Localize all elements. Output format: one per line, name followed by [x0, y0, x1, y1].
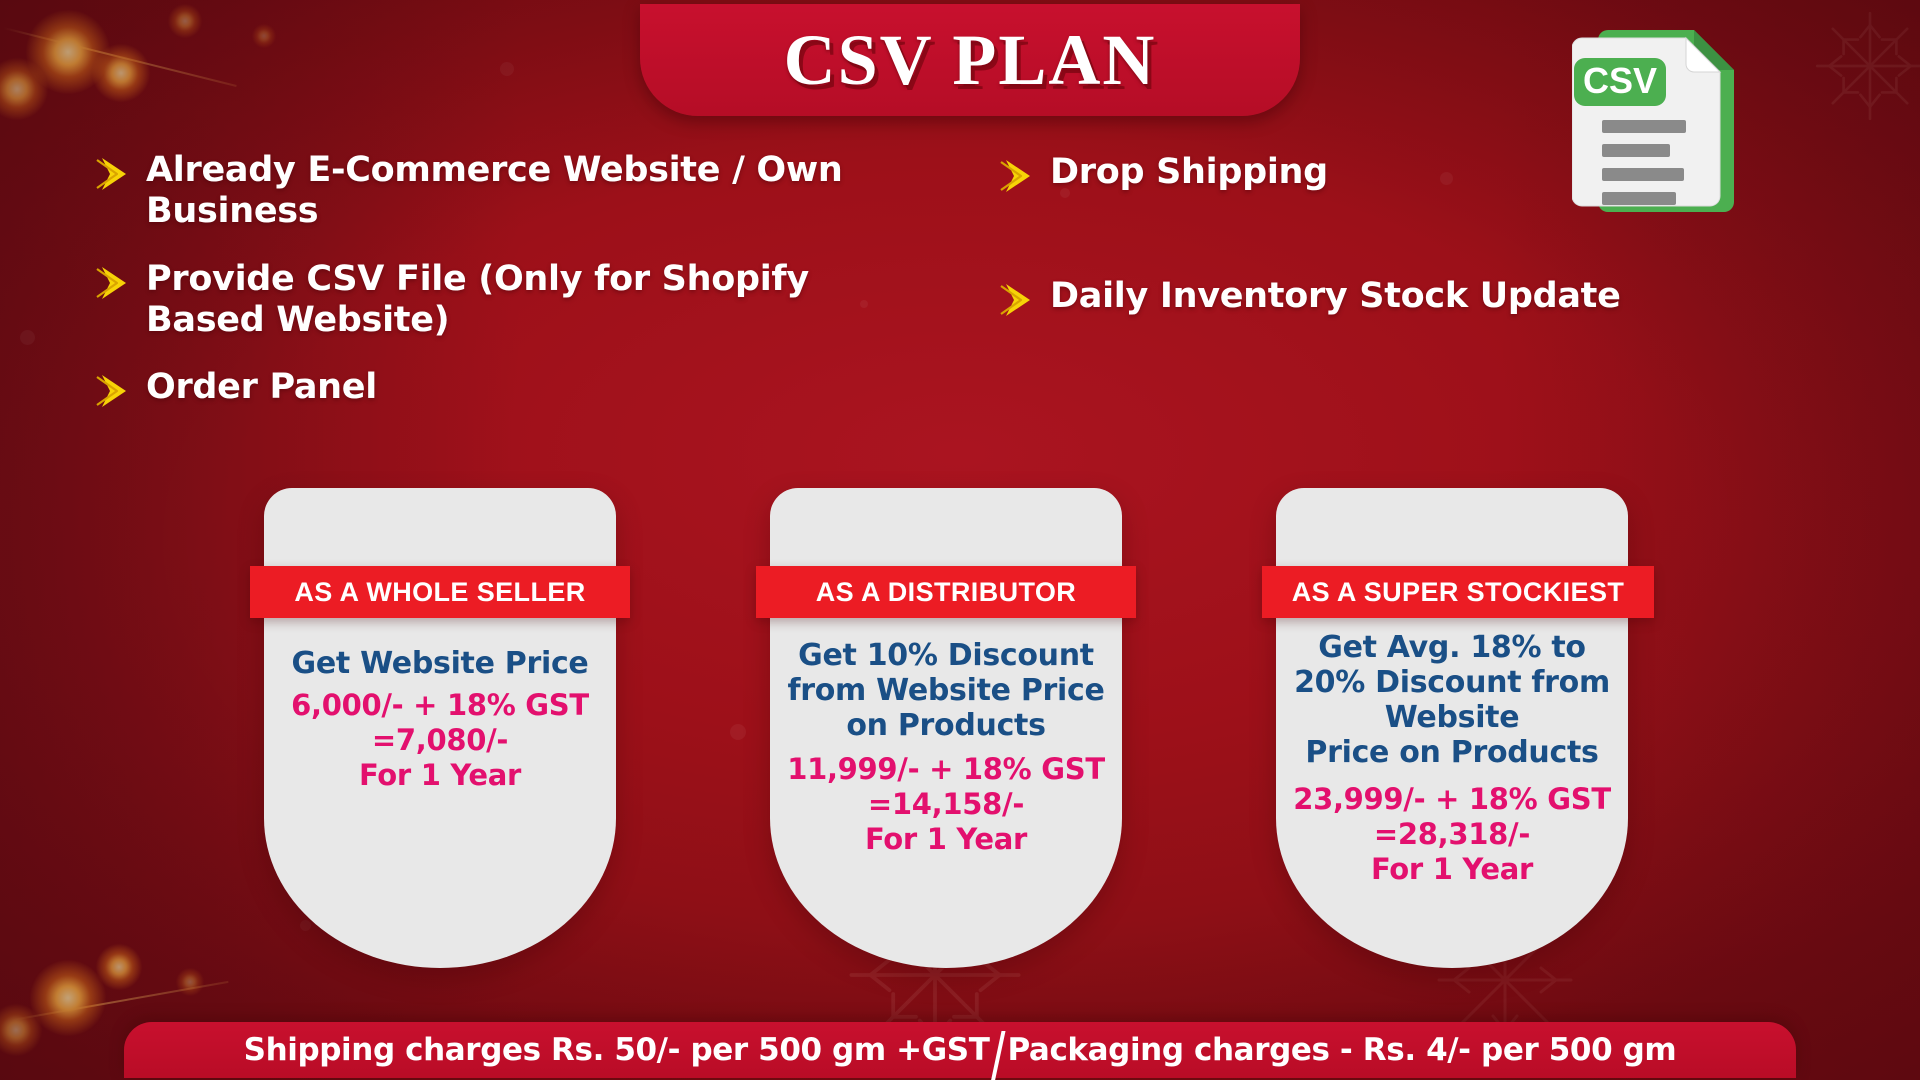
chevron-right-icon	[1000, 278, 1044, 322]
plan-ribbon: AS A WHOLE SELLER	[250, 566, 630, 618]
plan-price: 23,999/- + 18% GST =28,318/- For 1 Year	[1290, 782, 1614, 886]
features-left-column: Already E-Commerce Website / Own Busines…	[96, 150, 896, 439]
features-right-column: Drop Shipping Daily Inventory Stock Upda…	[1000, 152, 1760, 348]
plan-ribbon-label: AS A DISTRIBUTOR	[816, 577, 1076, 608]
feature-label: Already E-Commerce Website / Own Busines…	[146, 150, 896, 233]
shipping-charges-label: Shipping charges Rs. 50/- per 500 gm +GS…	[244, 1032, 990, 1068]
chevron-right-icon	[1000, 154, 1044, 198]
packaging-charges-label: Packaging charges - Rs. 4/- per 500 gm	[1007, 1032, 1676, 1068]
separator-slash	[991, 1031, 1006, 1080]
plan-heading: Get Avg. 18% to 20% Discount from Websit…	[1290, 630, 1614, 770]
feature-label: Daily Inventory Stock Update	[1050, 276, 1621, 317]
poster-stage: CSV PLAN CSV	[0, 0, 1920, 1080]
feature-item: Provide CSV File (Only for Shopify Based…	[96, 259, 896, 342]
footer-banner: Shipping charges Rs. 50/- per 500 gm +GS…	[124, 1022, 1796, 1078]
feature-label: Drop Shipping	[1050, 152, 1328, 193]
chevron-right-icon	[96, 152, 140, 196]
csv-badge-label: CSV	[1583, 60, 1657, 101]
feature-label: Order Panel	[146, 367, 377, 408]
plan-heading: Get 10% Discount from Website Price on P…	[784, 638, 1108, 743]
chevron-right-icon	[96, 261, 140, 305]
plan-heading: Get Website Price	[278, 646, 602, 681]
chevron-right-icon	[96, 369, 140, 413]
plan-price: 6,000/- + 18% GST =7,080/- For 1 Year	[278, 688, 602, 792]
feature-item: Order Panel	[96, 367, 896, 413]
plan-price: 11,999/- + 18% GST =14,158/- For 1 Year	[784, 752, 1108, 856]
plan-ribbon-label: AS A SUPER STOCKIEST	[1292, 577, 1625, 608]
title-banner: CSV PLAN	[640, 4, 1300, 116]
page-title: CSV PLAN	[784, 19, 1157, 102]
plan-ribbon: AS A DISTRIBUTOR	[756, 566, 1136, 618]
feature-item: Already E-Commerce Website / Own Busines…	[96, 150, 896, 233]
plan-ribbon: AS A SUPER STOCKIEST	[1262, 566, 1654, 618]
feature-label: Provide CSV File (Only for Shopify Based…	[146, 259, 896, 342]
plan-cards: AS A WHOLE SELLER Get Website Price 6,00…	[0, 488, 1920, 980]
plan-ribbon-label: AS A WHOLE SELLER	[294, 577, 585, 608]
feature-item: Daily Inventory Stock Update	[1000, 276, 1760, 322]
feature-item: Drop Shipping	[1000, 152, 1760, 198]
